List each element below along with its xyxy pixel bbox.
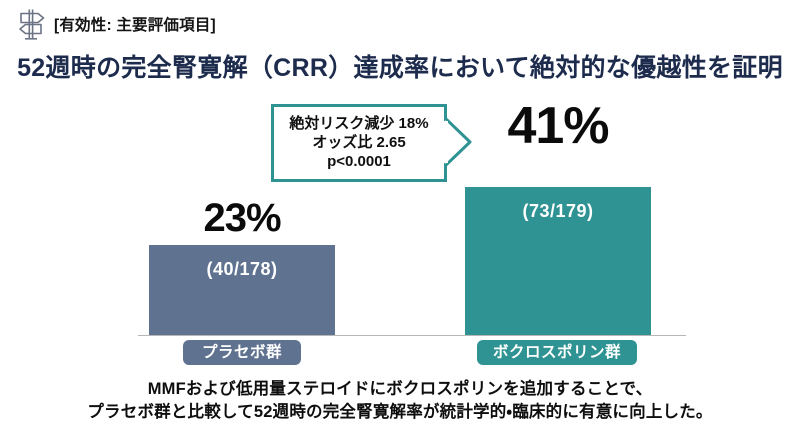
bar-value-placebo: 23% [149, 198, 335, 238]
callout-box: 絶対リスク減少 18% オッズ比 2.65 p<0.0001 [271, 104, 447, 182]
chart-baseline [138, 335, 686, 336]
group-label-voclosporin: ボクロスポリン群 [477, 340, 637, 365]
footer-line-2: プラセボ群と比較して52週時の完全腎寛解率が統計学的・臨床的に有意に向上した。 [0, 401, 800, 424]
group-label-placebo: プラセボ群 [183, 340, 301, 365]
bar-voclosporin: (73/179) [465, 187, 651, 335]
statistics-callout: 絶対リスク減少 18% オッズ比 2.65 p<0.0001 [271, 104, 447, 182]
bar-count-placebo: (40/178) [149, 259, 335, 280]
bar-count-voclosporin: (73/179) [465, 201, 651, 222]
callout-line-arr: 絶対リスク減少 18% [289, 115, 428, 133]
bar-chart: 23% (40/178) プラセボ群 41% (73/179) ボクロスポリン群… [0, 0, 800, 432]
callout-line-p-value: p<0.0001 [327, 153, 391, 171]
callout-pointer-icon [444, 117, 472, 167]
slide-root: [有効性: 主要評価項目] 52週時の完全腎寛解（CRR）達成率において絶対的な… [0, 0, 800, 432]
callout-line-odds-ratio: オッズ比 2.65 [312, 134, 405, 152]
bar-value-voclosporin: 41% [465, 100, 651, 152]
bar-placebo: (40/178) [149, 245, 335, 335]
footer-summary: MMFおよび低用量ステロイドにボクロスポリンを追加することで、 プラセボ群と比較… [0, 378, 800, 425]
footer-line-1: MMFおよび低用量ステロイドにボクロスポリンを追加することで、 [0, 378, 800, 401]
